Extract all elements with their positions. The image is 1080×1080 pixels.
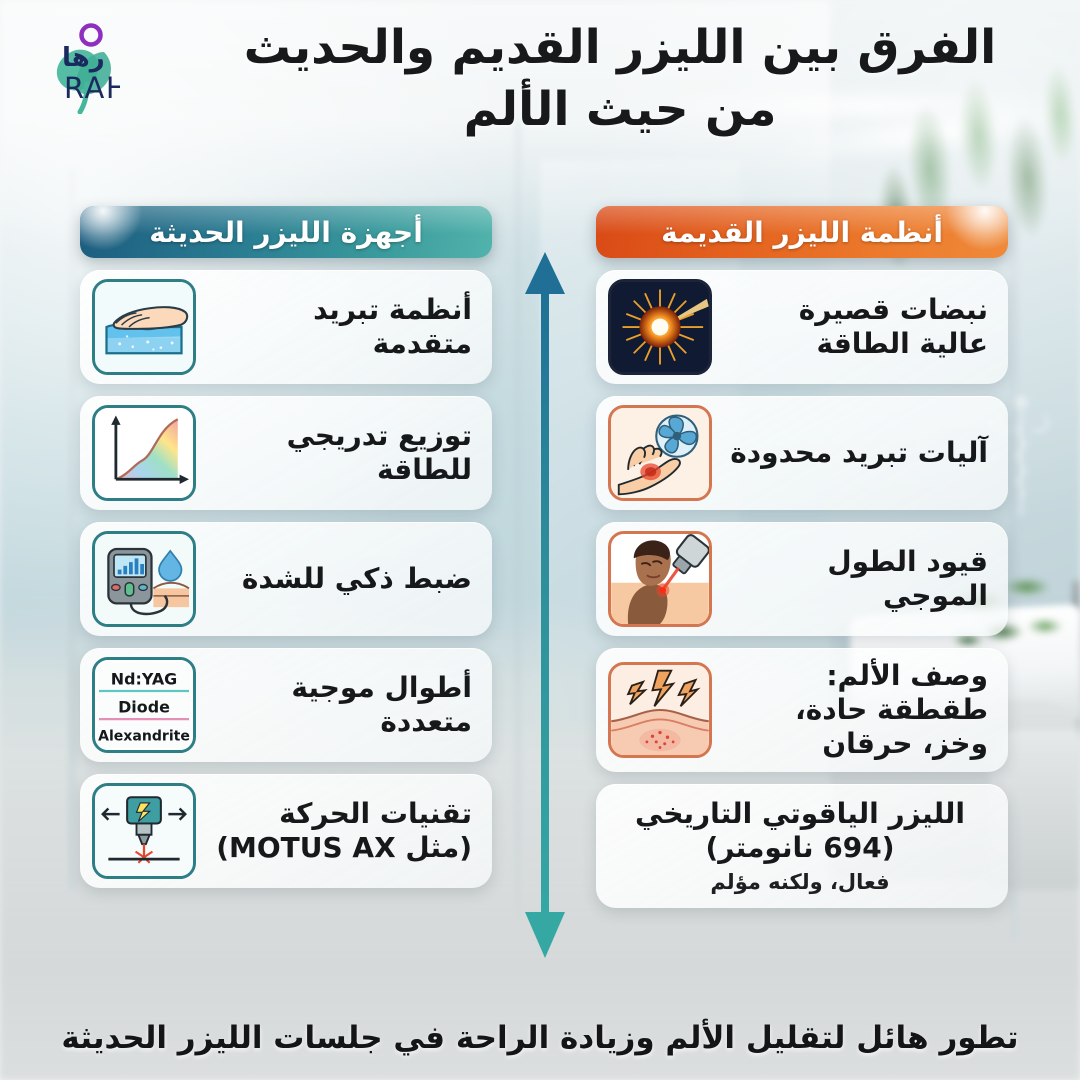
- card-title: تقنيات الحركة (مثل MOTUS AX): [208, 797, 472, 865]
- header-glint: [940, 206, 1008, 256]
- card-text: أطوال موجية متعددة: [208, 671, 476, 739]
- wavelength-item-2: Diode: [118, 698, 170, 717]
- card-title: ضبط ذكي للشدة: [208, 562, 472, 596]
- card-old-3[interactable]: قيود الطول الموجي: [596, 522, 1008, 636]
- card-text: نبضات قصيرة عالية الطاقة: [724, 293, 992, 361]
- column-modern-lasers: أجهزة الليزر الحديثة أنظمة تبريد متقدمة: [80, 206, 492, 888]
- laser-on-face-icon: [608, 531, 712, 627]
- card-old-4[interactable]: وصف الألم: طقطقة حادة، وخز، حرقان: [596, 648, 1008, 772]
- card-text: ضبط ذكي للشدة: [208, 562, 476, 596]
- raha-logo: رها RAHA: [0, 22, 120, 114]
- card-title: أطوال موجية متعددة: [208, 671, 472, 739]
- vertical-double-arrow-icon: [516, 252, 574, 958]
- card-title: وصف الألم: طقطقة حادة، وخز، حرقان: [724, 659, 988, 761]
- title-line-2: من حيث الألم: [160, 80, 1080, 140]
- column-old-lasers: أنظمة الليزر القديمة نبضات قصيرة عالية ا…: [596, 206, 1008, 908]
- card-text: توزيع تدريجي للطاقة: [208, 419, 476, 487]
- card-old-2[interactable]: آليات تبريد محدودة: [596, 396, 1008, 510]
- card-text: الليزر الياقوتي التاريخي (694 نانومتر) ف…: [614, 797, 990, 895]
- column-header-modern: أجهزة الليزر الحديثة: [80, 206, 492, 258]
- card-modern-5[interactable]: تقنيات الحركة (مثل MOTUS AX): [80, 774, 492, 888]
- logo-latin-text: RAHA: [64, 71, 120, 105]
- page-title: الفرق بين الليزر القديم والحديث من حيث ا…: [150, 18, 1080, 140]
- card-old-1[interactable]: نبضات قصيرة عالية الطاقة: [596, 270, 1008, 384]
- card-modern-1[interactable]: أنظمة تبريد متقدمة: [80, 270, 492, 384]
- footer-caption: تطور هائل لتقليل الألم وزيادة الراحة في …: [60, 1018, 1020, 1058]
- header-glint: [80, 206, 148, 256]
- column-header-old-label: أنظمة الليزر القديمة: [661, 216, 943, 249]
- card-text: أنظمة تبريد متقدمة: [208, 293, 476, 361]
- infographic-canvas: رها RAHA الفرق بين الليزر القديم والحديث…: [0, 0, 1080, 1080]
- card-modern-3[interactable]: ضبط ذكي للشدة: [80, 522, 492, 636]
- card-modern-4[interactable]: أطوال موجية متعددة Nd:YAG Diode Alexandr…: [80, 648, 492, 762]
- card-title: الليزر الياقوتي التاريخي (694 نانومتر): [614, 797, 986, 865]
- smart-intensity-device-icon: [92, 531, 196, 627]
- card-title: آليات تبريد محدودة: [724, 436, 988, 470]
- wavelength-item-3: Alexandrite: [98, 729, 190, 745]
- card-text: قيود الطول الموجي: [724, 545, 992, 613]
- card-title: قيود الطول الموجي: [724, 545, 988, 613]
- gradual-energy-graph-icon: [92, 405, 196, 501]
- pain-bolts-skin-icon: [608, 662, 712, 758]
- column-header-modern-label: أجهزة الليزر الحديثة: [149, 216, 423, 249]
- card-text: وصف الألم: طقطقة حادة، وخز، حرقان: [724, 659, 992, 761]
- card-title: توزيع تدريجي للطاقة: [208, 419, 472, 487]
- card-modern-2[interactable]: توزيع تدريجي للطاقة: [80, 396, 492, 510]
- fan-cooling-hand-icon: [608, 405, 712, 501]
- title-line-1: الفرق بين الليزر القديم والحديث: [160, 18, 1080, 78]
- card-text: تقنيات الحركة (مثل MOTUS AX): [208, 797, 476, 865]
- logo-arabic-text: رها: [62, 43, 105, 73]
- card-title: نبضات قصيرة عالية الطاقة: [724, 293, 988, 361]
- wavelength-item-1: Nd:YAG: [111, 669, 178, 688]
- wavelength-list-icon: Nd:YAG Diode Alexandrite: [92, 657, 196, 753]
- card-title: أنظمة تبريد متقدمة: [208, 293, 472, 361]
- card-text: آليات تبريد محدودة: [724, 436, 992, 470]
- card-subtitle: فعال، ولكنه مؤلم: [614, 869, 986, 895]
- cooling-gel-pad-icon: [92, 279, 196, 375]
- laser-burst-icon: [608, 279, 712, 375]
- column-header-old: أنظمة الليزر القديمة: [596, 206, 1008, 258]
- moving-handpiece-icon: [92, 783, 196, 879]
- card-old-5[interactable]: الليزر الياقوتي التاريخي (694 نانومتر) ف…: [596, 784, 1008, 908]
